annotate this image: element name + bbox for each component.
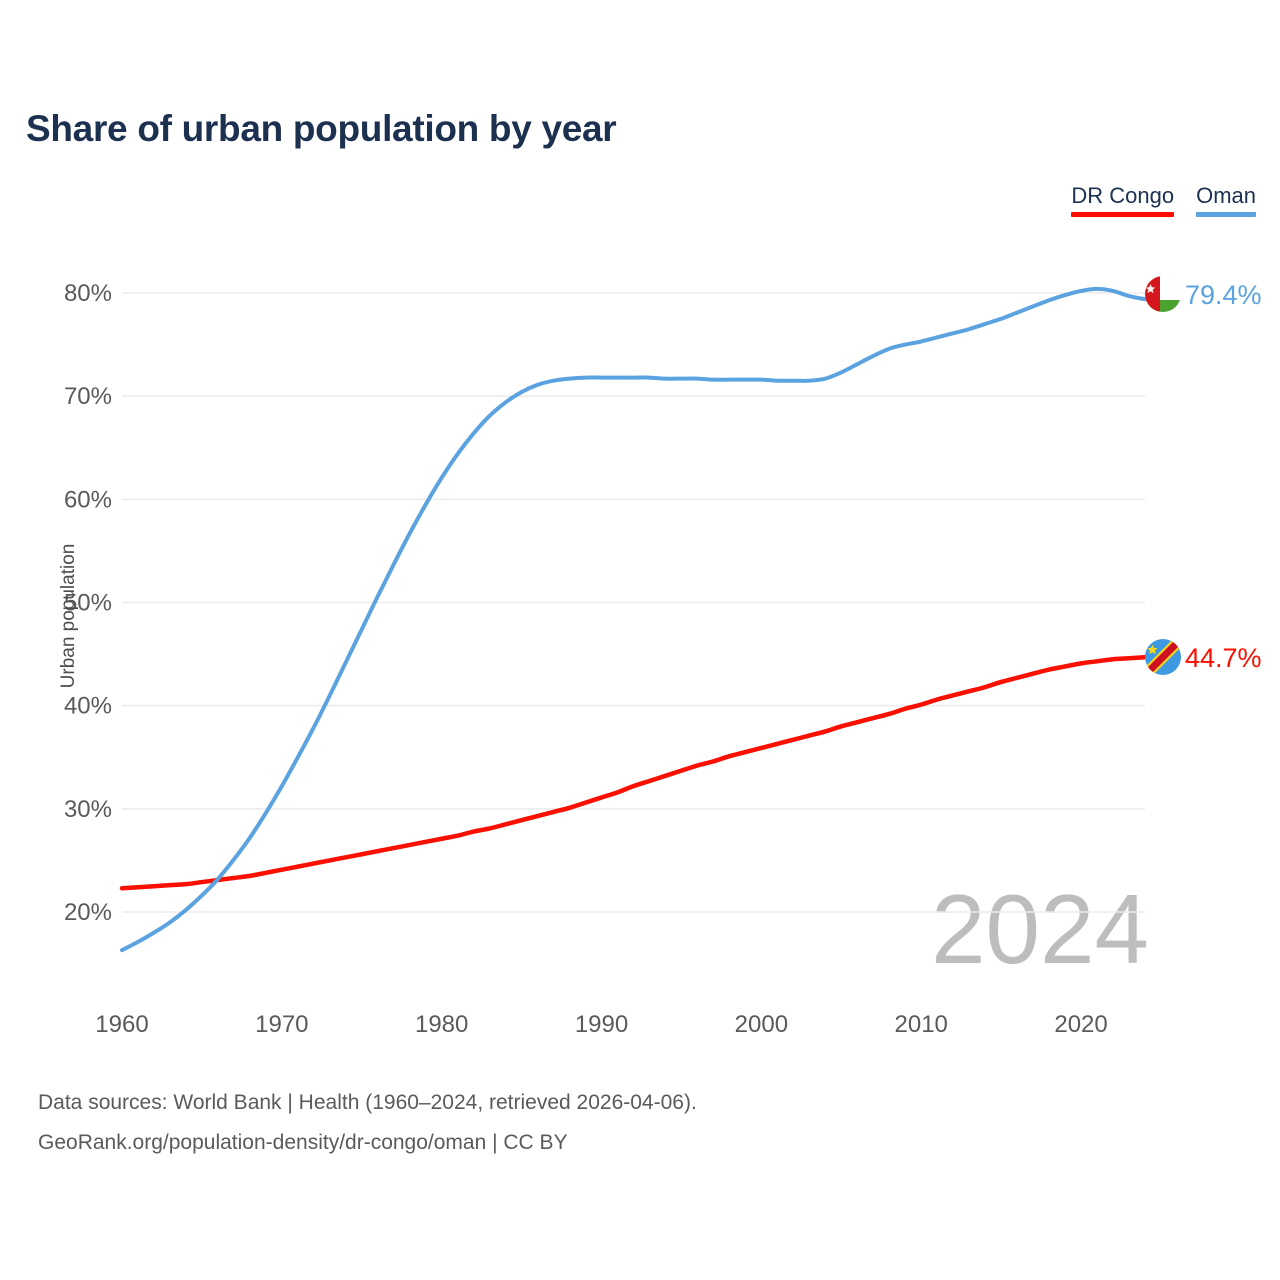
series-line-dr-congo [122,657,1145,888]
x-axis-tick-labels: 1960197019801990200020102020 [95,1011,1107,1038]
endpoint-value-oman: 79.4% [1185,280,1262,310]
endpoint-marker-oman[interactable]: 79.4% [1145,276,1262,312]
watermark-year-label: 2024 [931,874,1149,984]
y-axis-title: Urban population [58,544,79,689]
oman-flag-icon [1145,276,1181,312]
y-tick-label: 40% [64,693,112,720]
endpoint-value-dr-congo: 44.7% [1185,643,1262,673]
y-tick-label: 30% [64,796,112,823]
footer-data-sources: Data sources: World Bank | Health (1960–… [38,1083,697,1123]
footer: Data sources: World Bank | Health (1960–… [38,1083,697,1163]
dr-congo-flag-icon [1141,635,1185,679]
x-tick-label: 1970 [255,1011,308,1038]
x-tick-label: 2010 [895,1011,948,1038]
footer-attribution: GeoRank.org/population-density/dr-congo/… [38,1123,697,1163]
y-tick-label: 70% [64,383,112,410]
chart-page: Share of urban population by year DR Con… [0,0,1280,1280]
y-tick-label: 80% [64,280,112,307]
x-tick-label: 2020 [1054,1011,1107,1038]
series-line-oman [122,289,1145,950]
x-tick-label: 1960 [95,1011,148,1038]
y-tick-label: 60% [64,486,112,513]
chart-gridlines [122,293,1145,912]
endpoint-marker-dr-congo[interactable]: 44.7% [1141,635,1262,679]
y-tick-label: 20% [64,899,112,926]
chart-series-group [122,289,1145,950]
x-tick-label: 1990 [575,1011,628,1038]
x-tick-label: 2000 [735,1011,788,1038]
x-tick-label: 1980 [415,1011,468,1038]
